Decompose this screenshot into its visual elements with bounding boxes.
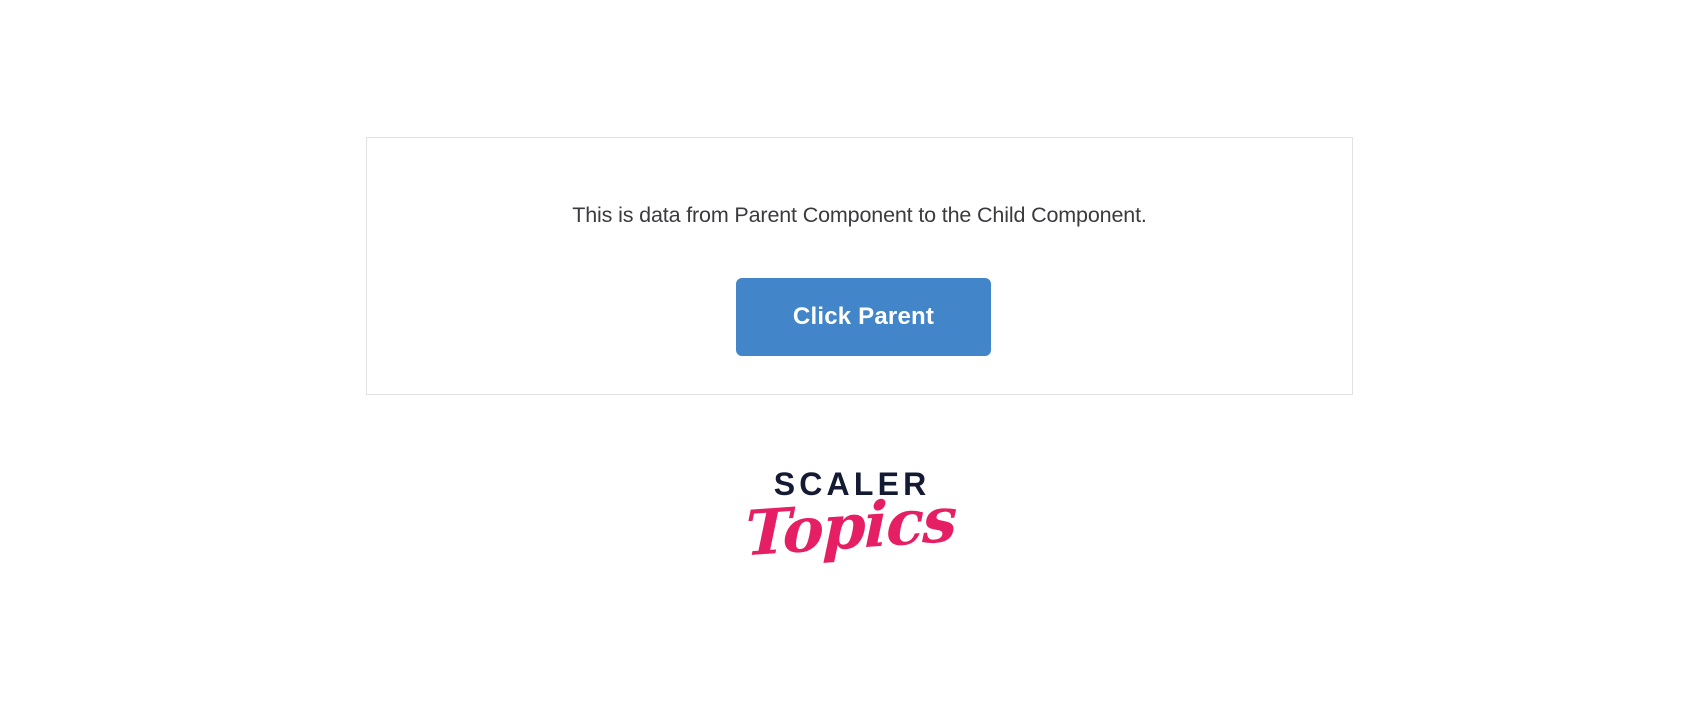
parent-component-card: This is data from Parent Component to th… [366, 137, 1353, 395]
click-parent-button[interactable]: Click Parent [736, 278, 991, 356]
app-root: This is data from Parent Component to th… [0, 0, 1700, 709]
scaler-topics-logo: SCALER Topics [0, 468, 1700, 598]
parent-to-child-message: This is data from Parent Component to th… [367, 201, 1352, 229]
topics-script-wordmark: Topics [744, 489, 956, 566]
